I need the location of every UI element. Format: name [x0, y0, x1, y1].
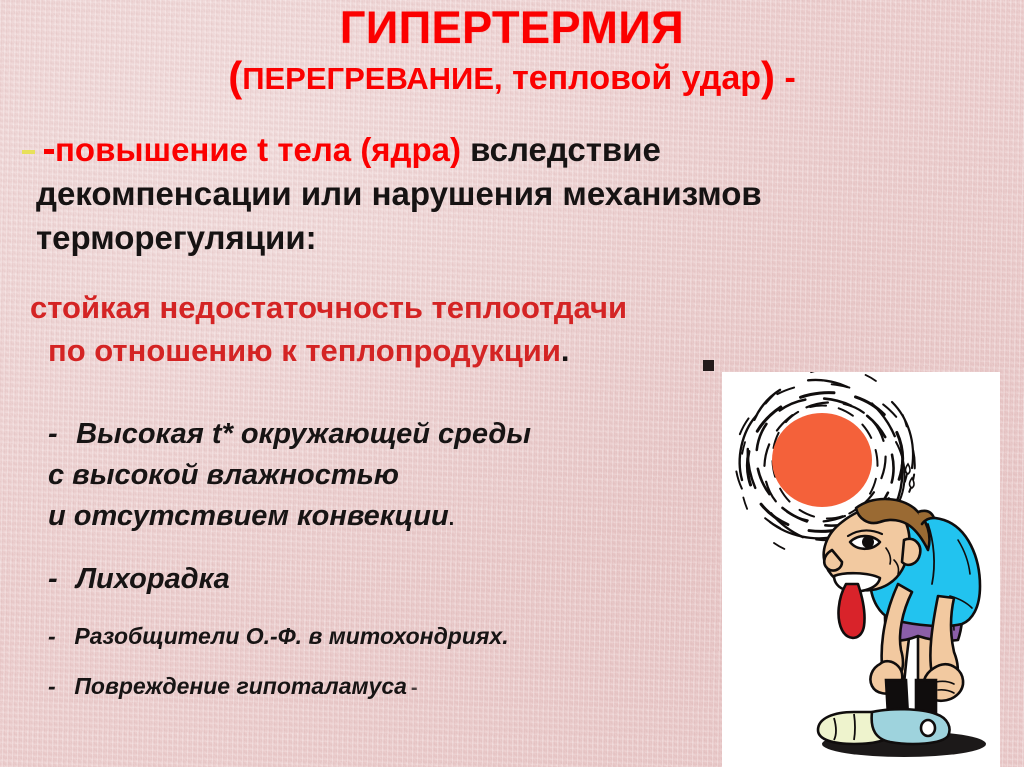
- causes-list: - Высокая t* окружающей среды с высокой …: [48, 414, 708, 706]
- slide: ГИПЕРТЕРМИЯ (ПЕРЕГРЕВАНИЕ, тепловой удар…: [0, 0, 1024, 767]
- list-item-first-line: - Разобщители О.-Ф. в митохондриях.: [48, 618, 708, 654]
- statement-line-1: стойкая недостаточность теплоотдачи: [30, 286, 730, 329]
- list-item-text: и отсутствием конвекции: [48, 500, 449, 532]
- list-item: - Лихорадка: [48, 559, 708, 600]
- list-item-cont-line: с высокой влажностью: [48, 455, 708, 496]
- statement-line-2-text: по отношению к теплопродукции: [48, 333, 561, 368]
- list-item: - Высокая t* окружающей среды с высокой …: [48, 414, 708, 540]
- subtitle-smallcaps: ПЕРЕГРЕВАНИЕ,: [242, 61, 502, 96]
- overheated-man-svg: [722, 372, 1000, 767]
- subtitle-open-paren: (: [228, 53, 242, 100]
- subtitle-normal: тепловой удар: [503, 59, 761, 97]
- bullet-dash-icon: -: [48, 559, 68, 600]
- statement-period: .: [561, 333, 570, 368]
- red-dash-marker: [44, 149, 54, 154]
- list-item: - Повреждение гипоталамуса-: [48, 668, 708, 706]
- definition-line-2: декомпенсации или нарушения механизмов: [36, 172, 978, 216]
- subtitle-dash: -: [775, 59, 796, 97]
- list-item-text: Повреждение гипоталамуса: [74, 673, 407, 699]
- bullet-dash-icon: -: [48, 414, 68, 455]
- definition-paragraph: повышение t тела (ядра) вследствие деком…: [18, 128, 978, 260]
- slide-subtitle: (ПЕРЕГРЕВАНИЕ, тепловой удар) -: [0, 53, 1024, 109]
- definition-line-3: терморегуляции:: [36, 216, 978, 260]
- list-item-trailing: .: [449, 508, 455, 530]
- list-item-text: Лихорадка: [76, 563, 230, 595]
- statement-block: стойкая недостаточность теплоотдачи по о…: [30, 286, 730, 372]
- overheated-man-illustration: [722, 372, 1000, 767]
- list-item-first-line: - Повреждение гипоталамуса-: [48, 668, 708, 706]
- definition-line-1: повышение t тела (ядра) вследствие: [18, 128, 978, 172]
- statement-line-2: по отношению к теплопродукции.: [48, 329, 730, 372]
- list-item-text: Высокая t* окружающей среды: [76, 418, 531, 450]
- definition-line-1-tail: вследствие: [461, 131, 661, 168]
- square-bullet-icon: [703, 360, 714, 371]
- list-item-first-line: - Высокая t* окружающей среды: [48, 414, 708, 455]
- page-title: ГИПЕРТЕРМИЯ: [0, 2, 1024, 54]
- list-item-cont-line: и отсутствием конвекции.: [48, 496, 708, 540]
- list-item-first-line: - Лихорадка: [48, 559, 708, 600]
- list-item-text: с высокой влажностью: [48, 459, 399, 491]
- subtitle-close-paren: ): [761, 53, 775, 100]
- list-item: - Разобщители О.-Ф. в митохондриях.: [48, 618, 708, 654]
- bullet-dash-icon: -: [48, 618, 68, 654]
- list-item-text: Разобщители О.-Ф. в митохондриях.: [74, 623, 508, 649]
- bullet-dash-icon: -: [48, 668, 68, 704]
- yellow-dash-marker: [22, 150, 35, 154]
- shoes-icon: [818, 709, 950, 744]
- definition-red-term: повышение t тела (ядра): [55, 131, 461, 168]
- list-item-trailing: -: [411, 677, 418, 699]
- slide-heading: ГИПЕРТЕРМИЯ (ПЕРЕГРЕВАНИЕ, тепловой удар…: [0, 0, 1024, 109]
- sun-icon: [772, 413, 872, 507]
